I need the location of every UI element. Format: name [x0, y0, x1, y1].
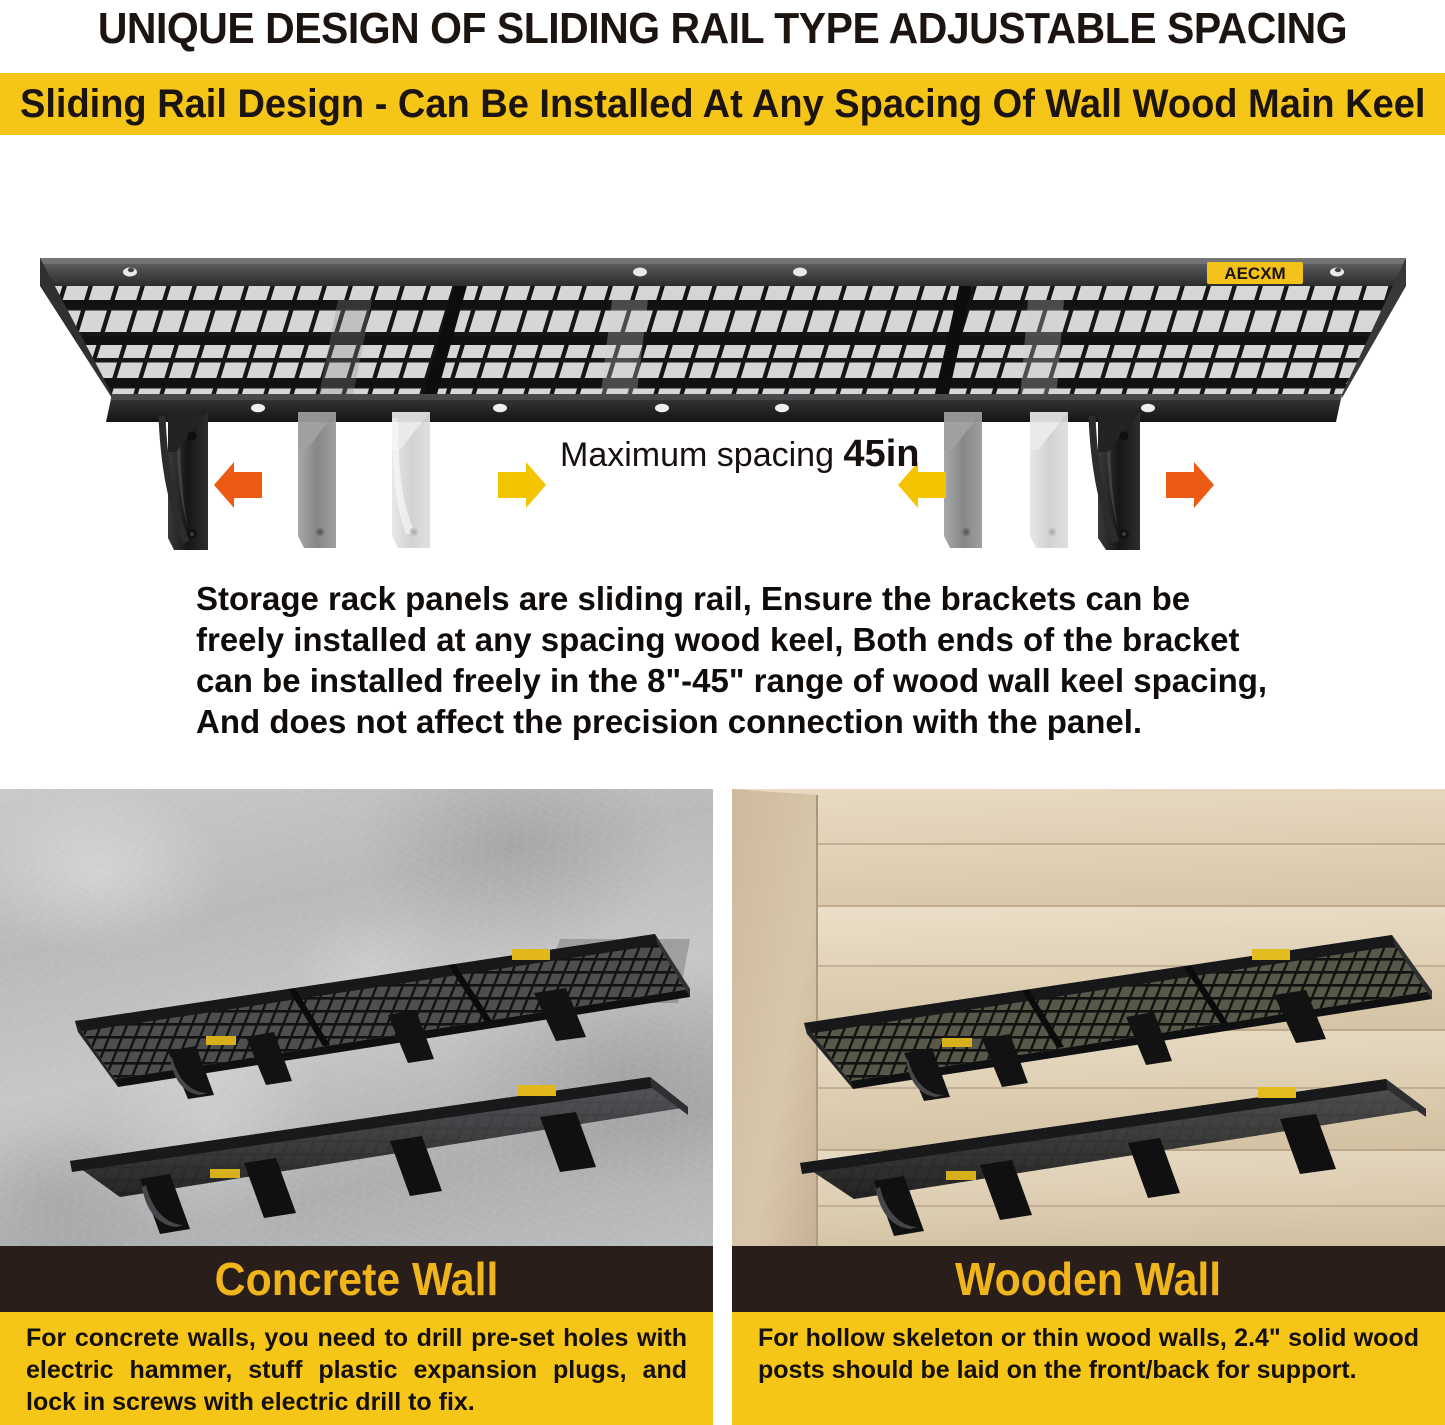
shelf-badge-upper-right	[1252, 949, 1290, 960]
caption-body-band-concrete: For concrete walls, you need to drill pr…	[0, 1312, 713, 1425]
max-spacing-label: Maximum spacing 45in	[560, 433, 919, 476]
shelf-badge-upper-right	[512, 949, 550, 960]
rack-back-rail	[40, 258, 1406, 286]
bracket-solid-left	[168, 412, 208, 550]
wall-type-panels: Concrete Wall For concrete walls, you ne…	[0, 789, 1445, 1425]
shelf-badge-lower-right	[1258, 1087, 1296, 1098]
caption-title-band-wooden: Wooden Wall	[732, 1246, 1445, 1312]
rack-front-rail	[106, 394, 1342, 422]
arrow-left-yellow	[498, 462, 546, 508]
shelf-badge-lower-left	[210, 1169, 240, 1178]
subtitle-text: Sliding Rail Design - Can Be Installed A…	[20, 82, 1425, 126]
caption-body-concrete: For concrete walls, you need to drill pr…	[26, 1322, 687, 1418]
shelf-lower-wooden	[732, 1061, 1445, 1236]
caption-title-wooden: Wooden Wall	[955, 1254, 1221, 1304]
caption-title-band-concrete: Concrete Wall	[0, 1246, 713, 1312]
bracket-solid-right	[1098, 412, 1140, 550]
caption-title-concrete: Concrete Wall	[215, 1254, 499, 1304]
arrow-right-orange	[1166, 462, 1214, 508]
shelf-upper-wooden	[732, 909, 1445, 1101]
shelf-badge-lower-right	[518, 1085, 556, 1096]
max-spacing-prefix: Maximum spacing	[560, 436, 843, 474]
caption-body-wooden: For hollow skeleton or thin wood walls, …	[758, 1322, 1419, 1386]
bracket-ghost-right-b	[1030, 412, 1068, 548]
arrow-left-orange	[214, 462, 262, 508]
bracket-ghost-right-a	[944, 412, 982, 548]
shelf-lower-concrete	[0, 1059, 713, 1234]
bracket-ghost-left-a	[298, 412, 336, 548]
subtitle-banner: Sliding Rail Design - Can Be Installed A…	[0, 73, 1445, 135]
max-spacing-value: 45in	[843, 433, 919, 475]
shelf-badge-upper-left	[942, 1038, 972, 1047]
infographic-page: UNIQUE DESIGN OF SLIDING RAIL TYPE ADJUS…	[0, 0, 1445, 1425]
brand-badge: AECXM	[1207, 262, 1303, 284]
panel-wooden-wall: Wooden Wall For hollow skeleton or thin …	[732, 789, 1445, 1425]
description-paragraph: Storage rack panels are sliding rail, En…	[196, 578, 1268, 742]
shelf-badge-lower-left	[946, 1171, 976, 1180]
brand-badge-label: AECXM	[1224, 264, 1285, 283]
panel-concrete-wall: Concrete Wall For concrete walls, you ne…	[0, 789, 713, 1425]
wooden-wall-photo	[732, 789, 1445, 1246]
bracket-ghost-left-b	[392, 412, 430, 548]
shelf-upper-concrete	[0, 909, 713, 1099]
concrete-wall-photo	[0, 789, 713, 1246]
hero-illustration: AECXM	[0, 150, 1445, 560]
shelf-badge-upper-left	[206, 1036, 236, 1045]
caption-body-band-wooden: For hollow skeleton or thin wood walls, …	[732, 1312, 1445, 1425]
page-title: UNIQUE DESIGN OF SLIDING RAIL TYPE ADJUS…	[51, 2, 1395, 58]
